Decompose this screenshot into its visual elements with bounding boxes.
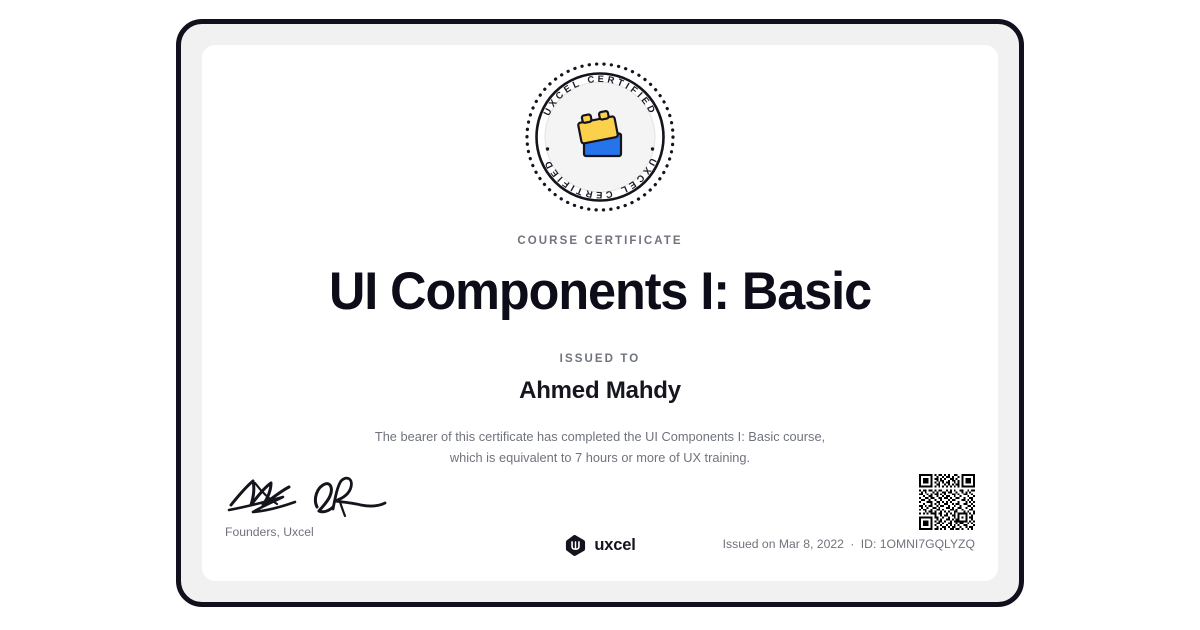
seal-graphic: UXCEL CERTIFIED UXCEL CERTIFIED	[522, 59, 678, 215]
verification-qr-code[interactable]	[919, 474, 975, 530]
uxcel-hexagon-logo-icon	[564, 534, 587, 557]
certificate-seal: UXCEL CERTIFIED UXCEL CERTIFIED	[202, 59, 998, 215]
certificate-page: UXCEL CERTIFIED UXCEL CERTIFIED	[0, 0, 1200, 630]
page-title: UI Components I: Basic	[222, 261, 978, 323]
seal-bullet-right	[651, 147, 654, 150]
qr-code-image	[919, 474, 975, 530]
certificate-id: ID: 1OMNI7GQLYZQ	[861, 537, 975, 551]
certificate-card: UXCEL CERTIFIED UXCEL CERTIFIED	[202, 45, 998, 581]
founder-signatures-icon	[225, 469, 390, 521]
signature-block: Founders, Uxcel	[225, 469, 455, 539]
uxcel-wordmark: uxcel	[594, 536, 635, 555]
issue-metadata: Issued on Mar 8, 2022 · ID: 1OMNI7GQLYZQ	[723, 537, 975, 551]
issue-date: Issued on Mar 8, 2022	[723, 537, 844, 551]
lego-bricks-icon	[577, 110, 621, 156]
issued-to-label: ISSUED TO	[202, 353, 998, 365]
seal-bullet-left	[546, 147, 549, 150]
course-certificate-kicker: COURSE CERTIFICATE	[202, 235, 998, 247]
description-line-1: The bearer of this certificate has compl…	[292, 427, 908, 448]
meta-separator: ·	[847, 537, 857, 551]
certificate-frame: UXCEL CERTIFIED UXCEL CERTIFIED	[176, 19, 1024, 607]
signature-images	[225, 469, 455, 521]
certificate-description: The bearer of this certificate has compl…	[292, 427, 908, 468]
recipient-name: Ahmed Mahdy	[202, 377, 998, 405]
description-line-2: which is equivalent to 7 hours or more o…	[292, 448, 908, 469]
